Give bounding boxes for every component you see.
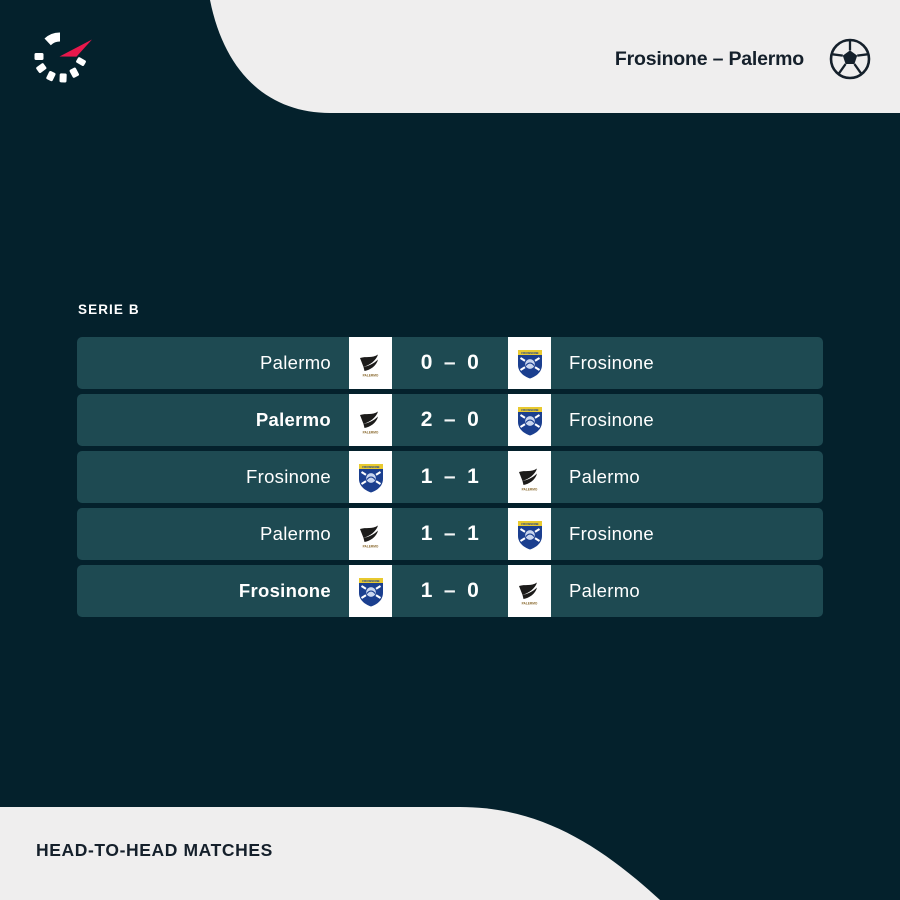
header: Frosinone – Palermo (0, 0, 900, 118)
head-to-head-match-list: Palermo PALERMO 0 – 0 (77, 337, 823, 622)
palermo-crest-icon: PALERMO (508, 451, 551, 503)
svg-text:FROSINONE: FROSINONE (521, 407, 538, 411)
match-title: Frosinone – Palermo (615, 48, 804, 71)
score: 2 – 0 (392, 394, 508, 446)
score-separator: – (444, 351, 456, 375)
header-right-group: Frosinone – Palermo (615, 0, 872, 118)
away-score: 0 (467, 408, 479, 432)
frosinone-crest-icon: FROSINONE (349, 565, 392, 617)
soccer-ball-icon (828, 37, 872, 81)
table-row[interactable]: Palermo PALERMO 0 – 0 (77, 337, 823, 389)
home-team-name: Frosinone (77, 451, 349, 503)
home-team-name: Palermo (77, 337, 349, 389)
table-row[interactable]: Frosinone FROSINONE 1 – 0 (77, 565, 823, 617)
svg-text:FROSINONE: FROSINONE (521, 521, 538, 525)
flashscore-speedometer-logo[interactable] (30, 26, 100, 88)
home-score: 1 (421, 579, 433, 603)
table-row[interactable]: Palermo PALERMO 2 – 0 (77, 394, 823, 446)
score: 1 – 1 (392, 451, 508, 503)
away-team-name: Palermo (551, 451, 823, 503)
league-label: SERIE B (78, 302, 140, 317)
home-score: 2 (421, 408, 433, 432)
footer: HEAD-TO-HEAD MATCHES (0, 800, 900, 900)
svg-text:PALERMO: PALERMO (363, 430, 379, 434)
away-score: 1 (467, 465, 479, 489)
home-score: 0 (421, 351, 433, 375)
score-separator: – (444, 465, 456, 489)
home-score: 1 (421, 522, 433, 546)
frosinone-crest-icon: FROSINONE (508, 394, 551, 446)
frosinone-crest-icon: FROSINONE (508, 337, 551, 389)
frosinone-crest-icon: FROSINONE (349, 451, 392, 503)
score: 0 – 0 (392, 337, 508, 389)
score: 1 – 1 (392, 508, 508, 560)
frosinone-crest-icon: FROSINONE (508, 508, 551, 560)
score-separator: – (444, 579, 456, 603)
away-team-name: Frosinone (551, 508, 823, 560)
svg-text:PALERMO: PALERMO (522, 487, 538, 491)
away-team-name: Frosinone (551, 394, 823, 446)
score-separator: – (444, 408, 456, 432)
svg-text:FROSINONE: FROSINONE (521, 350, 538, 354)
palermo-crest-icon: PALERMO (349, 394, 392, 446)
table-row[interactable]: Palermo PALERMO 1 – 1 (77, 508, 823, 560)
svg-text:PALERMO: PALERMO (522, 601, 538, 605)
away-team-name: Frosinone (551, 337, 823, 389)
away-team-name: Palermo (551, 565, 823, 617)
home-team-name: Palermo (77, 508, 349, 560)
main-content: SERIE B Palermo PALERMO 0 – 0 (0, 0, 900, 900)
svg-text:FROSINONE: FROSINONE (362, 464, 379, 468)
footer-title: HEAD-TO-HEAD MATCHES (36, 840, 273, 861)
palermo-crest-icon: PALERMO (349, 508, 392, 560)
home-team-name: Palermo (77, 394, 349, 446)
svg-text:PALERMO: PALERMO (363, 544, 379, 548)
home-team-name: Frosinone (77, 565, 349, 617)
score: 1 – 0 (392, 565, 508, 617)
svg-text:FROSINONE: FROSINONE (362, 578, 379, 582)
away-score: 1 (467, 522, 479, 546)
away-score: 0 (467, 579, 479, 603)
home-score: 1 (421, 465, 433, 489)
palermo-crest-icon: PALERMO (508, 565, 551, 617)
away-score: 0 (467, 351, 479, 375)
table-row[interactable]: Frosinone FROSINONE 1 – 1 (77, 451, 823, 503)
palermo-crest-icon: PALERMO (349, 337, 392, 389)
score-separator: – (444, 522, 456, 546)
svg-text:PALERMO: PALERMO (363, 373, 379, 377)
page-root: Frosinone – Palermo SERIE B Palermo (0, 0, 900, 900)
